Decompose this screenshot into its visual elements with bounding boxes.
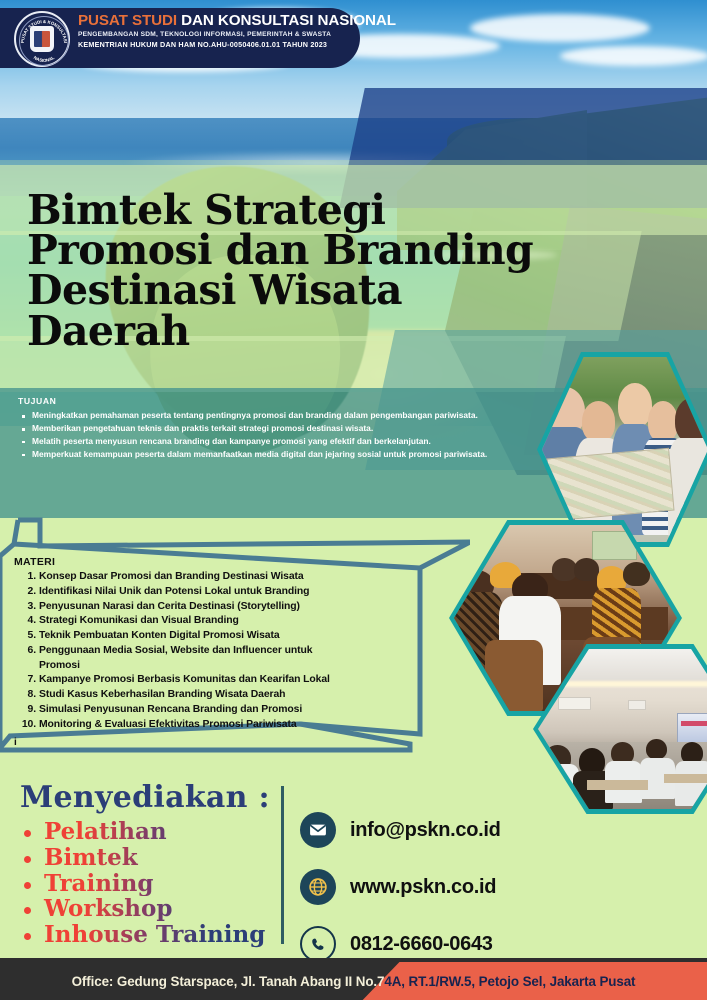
header-org-title: PUSAT STUDI DAN KONSULTASI NASIONAL [78, 12, 360, 29]
tujuan-item: Meningkatkan pemahaman peserta tentang p… [18, 410, 488, 422]
person-head [618, 383, 651, 427]
air-conditioner [628, 700, 646, 710]
materi-item: Simulasi Penyusunan Rencana Branding dan… [14, 703, 414, 718]
person-head [646, 739, 666, 760]
globe-icon [300, 869, 336, 905]
materi-list: Konsep Dasar Promosi dan Branding Destin… [14, 570, 414, 732]
menyediakan-section: Menyediakan : Pelatihan Bimtek Training … [20, 783, 270, 948]
materi-item: Studi Kasus Keberhasilan Branding Wisata… [14, 688, 414, 703]
hex-photo-clip [538, 649, 707, 809]
tujuan-section: TUJUAN Meningkatkan pemahaman peserta te… [18, 396, 488, 462]
tujuan-list: Meningkatkan pemahaman peserta tentang p… [18, 410, 488, 461]
menyediakan-heading: Menyediakan : [20, 783, 270, 813]
photo-content [538, 649, 707, 809]
poster-title: Bimtek Strategi Promosi dan Branding Des… [27, 190, 557, 351]
person-head [552, 558, 577, 580]
projector-screen [677, 713, 707, 745]
menyediakan-list: Pelatihan Bimtek Training Workshop Inhou… [20, 819, 270, 948]
website-value: www.pskn.co.id [350, 876, 496, 899]
menyediakan-item: Workshop [20, 896, 270, 922]
vertical-divider [281, 786, 284, 944]
header-subtitle: PENGEMBANGAN SDM, TEKNOLOGI INFORMASI, P… [78, 31, 360, 38]
whatsapp-phone-icon [300, 926, 336, 962]
ceiling-light [554, 681, 707, 687]
phone-value: 0812-6660-0643 [350, 933, 493, 956]
contact-row-email[interactable]: info@pskn.co.id [300, 812, 501, 848]
materi-item: Konsep Dasar Promosi dan Branding Destin… [14, 570, 414, 585]
poster-root: PUSAT STUDI & KONSULTASI NASIONAL PUSAT … [0, 0, 707, 1000]
person-head [574, 558, 599, 580]
tujuan-item: Memberikan pengetahuan teknis dan prakti… [18, 423, 488, 435]
contact-row-website[interactable]: www.pskn.co.id [300, 869, 501, 905]
materi-item: Kampanye Promosi Berbasis Komunitas dan … [14, 673, 414, 688]
desk [664, 774, 707, 784]
tujuan-item: Memperkuat kemampuan peserta dalam meman… [18, 449, 488, 461]
logo-arc-text: PUSAT STUDI & KONSULTASI NASIONAL [16, 13, 72, 69]
menyediakan-item: Training [20, 871, 270, 897]
footer-address-part-1: Office: Gedung Starspace, Jl. Tanah Aban… [72, 974, 385, 989]
materi-section: MATERI Konsep Dasar Promosi dan Branding… [14, 556, 414, 732]
materi-item-continuation: Promosi [14, 659, 414, 674]
svg-text:NASIONAL: NASIONAL [33, 55, 56, 63]
header-text-block: PUSAT STUDI DAN KONSULTASI NASIONAL PENG… [78, 12, 360, 49]
desk [587, 780, 648, 790]
header-bar: PUSAT STUDI & KONSULTASI NASIONAL PUSAT … [0, 0, 707, 78]
menyediakan-item: Bimtek [20, 845, 270, 871]
title-line-2: Promosi dan Branding [27, 230, 557, 270]
air-conditioner [558, 697, 591, 710]
svg-text:PUSAT STUDI & KONSULTASI: PUSAT STUDI & KONSULTASI [20, 19, 68, 43]
header-org-title-white: DAN KONSULTASI NASIONAL [181, 12, 396, 29]
envelope-icon [300, 812, 336, 848]
menyediakan-item: Inhouse Training [20, 922, 270, 948]
title-line-1: Bimtek Strategi [27, 190, 557, 230]
photo-classroom-presentation [533, 644, 707, 814]
header-org-title-orange: PUSAT STUDI [78, 12, 177, 29]
person-head [582, 401, 615, 442]
email-value: info@pskn.co.id [350, 819, 501, 842]
photo-tourists-with-map [537, 352, 707, 547]
person-head [648, 401, 678, 442]
footer-address: Office: Gedung Starspace, Jl. Tanah Aban… [0, 962, 707, 1000]
menyediakan-item: Pelatihan [20, 819, 270, 845]
materi-item: Penyusunan Narasi dan Cerita Destinasi (… [14, 600, 414, 615]
header-legal-reg: KEMENTRIAN HUKUM DAN HAM NO.AHU-0050406.… [78, 40, 360, 49]
materi-item: Strategi Komunikasi dan Visual Branding [14, 614, 414, 629]
materi-item: Teknik Pembuatan Konten Digital Promosi … [14, 629, 414, 644]
footer-bar: Office: Gedung Starspace, Jl. Tanah Aban… [0, 962, 707, 1000]
contact-row-phone[interactable]: 0812-6660-0643 [300, 926, 501, 962]
tujuan-item: Melatih peserta menyusun rencana brandin… [18, 436, 488, 448]
title-line-4: Daerah [27, 311, 557, 351]
pskn-logo: PUSAT STUDI & KONSULTASI NASIONAL [14, 11, 70, 67]
materi-item: Identifikasi Nilai Unik dan Potensi Loka… [14, 585, 414, 600]
footer-address-part-2: 4A, RT.1/RW.5, Petojo Sel, Jakarta Pusat [384, 974, 635, 989]
materi-item: Monitoring & Evaluasi Efektivitas Promos… [14, 718, 414, 733]
title-line-3: Destinasi Wisata [27, 270, 557, 310]
materi-item: Penggunaan Media Sosial, Website dan Inf… [14, 644, 414, 659]
materi-heading: MATERI [14, 556, 414, 568]
tujuan-heading: TUJUAN [18, 396, 488, 406]
materi-trailing-mark: i [14, 737, 17, 748]
